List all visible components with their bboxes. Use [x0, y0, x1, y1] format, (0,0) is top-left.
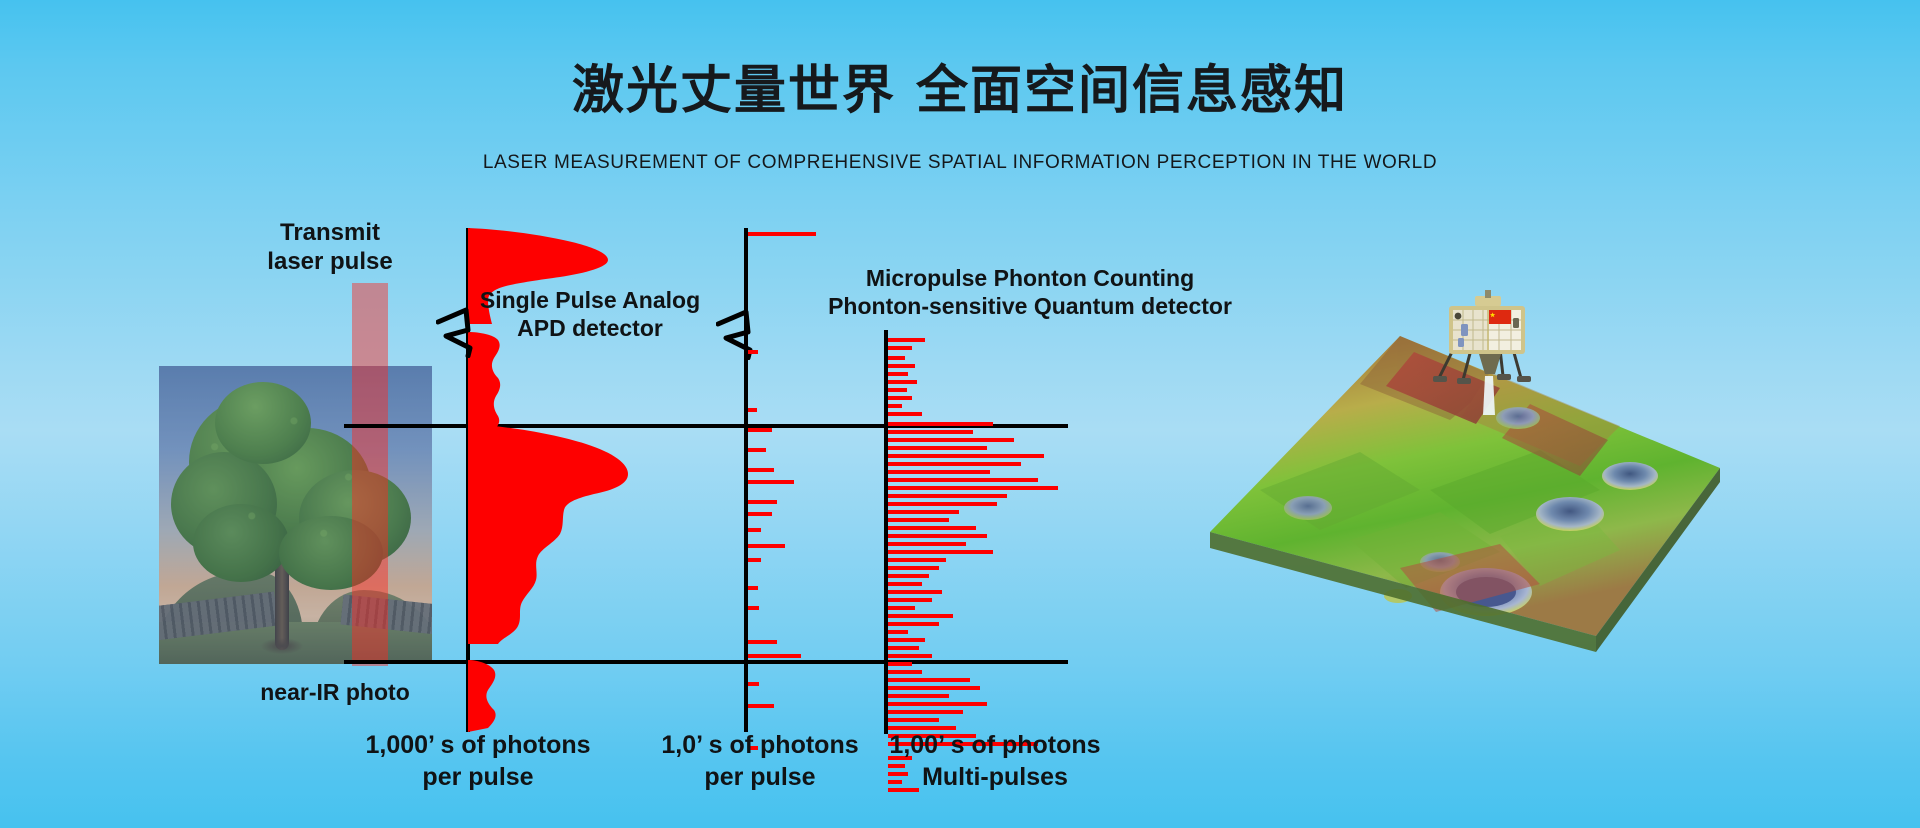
histogram-bar: [748, 654, 801, 658]
histogram-bar: [888, 346, 912, 350]
histogram-bar: [888, 646, 919, 650]
histogram-bar: [888, 678, 970, 682]
histogram-bar: [888, 550, 993, 554]
photo-blue-overlay: [159, 366, 432, 664]
transmit-laser-pulse-label: Transmit laser pulse: [230, 218, 430, 277]
histogram-bar: [888, 486, 1058, 490]
caption-photon-counting-line1: 1,00’ s of photons: [855, 730, 1135, 761]
histogram-bar: [888, 404, 902, 408]
histogram-bar: [748, 528, 761, 532]
histogram-bar: [888, 412, 922, 416]
histogram-bar: [888, 542, 966, 546]
histogram-bar: [888, 718, 939, 722]
histogram-bar: [888, 478, 1038, 482]
histogram-bar: [888, 454, 1044, 458]
histogram-bar: [888, 606, 915, 610]
histogram-bar: [888, 364, 915, 368]
histogram-bar: [888, 462, 1021, 466]
histogram-bar: [888, 430, 973, 434]
histogram-bar: [888, 582, 922, 586]
histogram-bar: [888, 526, 976, 530]
histogram-bar: [888, 670, 922, 674]
histogram-bar: [748, 350, 758, 354]
caption-analog-line2: per pulse: [338, 762, 618, 793]
histogram-bar: [888, 494, 1007, 498]
near-ir-photo: [159, 366, 432, 664]
near-ir-photo-label: near-IR photo: [215, 678, 455, 706]
histogram-bar: [888, 446, 987, 450]
histogram-bar: [748, 682, 759, 686]
histogram-bar: [888, 630, 908, 634]
laser-beam: [352, 283, 388, 666]
histogram-bar: [888, 470, 990, 474]
histogram-bar: [888, 614, 953, 618]
histogram-bar: [888, 574, 929, 578]
histogram-bar: [888, 356, 905, 360]
histogram-bar: [888, 566, 939, 570]
histogram-bar: [888, 396, 912, 400]
histogram-bar: [748, 500, 777, 504]
histogram-bar: [888, 622, 939, 626]
histogram-bar: [888, 338, 925, 342]
histogram-bar: [888, 558, 946, 562]
chinese-flag-icon: [1489, 310, 1511, 324]
histogram-bar: [748, 480, 794, 484]
micropulse-photon-counting-label: Micropulse Phonton Counting Phonton-sens…: [820, 264, 1240, 320]
histogram-bar: [888, 372, 908, 376]
caption-photon-counting-line2: Multi-pulses: [855, 762, 1135, 793]
histogram-bar: [748, 408, 757, 412]
histogram-bar: [888, 694, 949, 698]
histogram-bar: [888, 534, 987, 538]
histogram-bar: [888, 662, 912, 666]
histogram-bar: [888, 590, 942, 594]
histogram-bar: [748, 558, 761, 562]
histogram-bar: [888, 702, 987, 706]
histogram-bar: [748, 704, 774, 708]
histogram-bar: [888, 638, 925, 642]
caption-analog-line1: 1,000’ s of photons: [338, 730, 618, 761]
histogram-bar: [888, 710, 963, 714]
histogram-bar: [888, 388, 907, 392]
histogram-bar: [888, 654, 932, 658]
poster-canvas: 激光丈量世界 全面空间信息感知 LASER MEASUREMENT OF COM…: [0, 0, 1920, 828]
histogram-bar: [748, 512, 772, 516]
lunar-lander: [1425, 290, 1555, 415]
histogram-bar: [888, 510, 959, 514]
histogram-bar: [748, 428, 772, 432]
histogram-bar: [888, 502, 997, 506]
histogram-bar: [888, 518, 949, 522]
histogram-bar: [748, 232, 816, 236]
histogram-bar: [748, 640, 777, 644]
histogram-bar: [748, 606, 759, 610]
histogram-bar: [888, 380, 917, 384]
histogram-bar: [888, 422, 993, 426]
histogram-bar: [748, 468, 774, 472]
histogram-bar: [888, 598, 932, 602]
histogram-bar: [748, 586, 758, 590]
single-pulse-analog-label: Single Pulse Analog APD detector: [470, 286, 710, 342]
histogram-bar: [748, 448, 766, 452]
histogram-bar: [888, 686, 980, 690]
histogram-bar: [888, 438, 1014, 442]
histogram-bar: [748, 544, 785, 548]
photon-counting-histogram: [888, 0, 1148, 828]
